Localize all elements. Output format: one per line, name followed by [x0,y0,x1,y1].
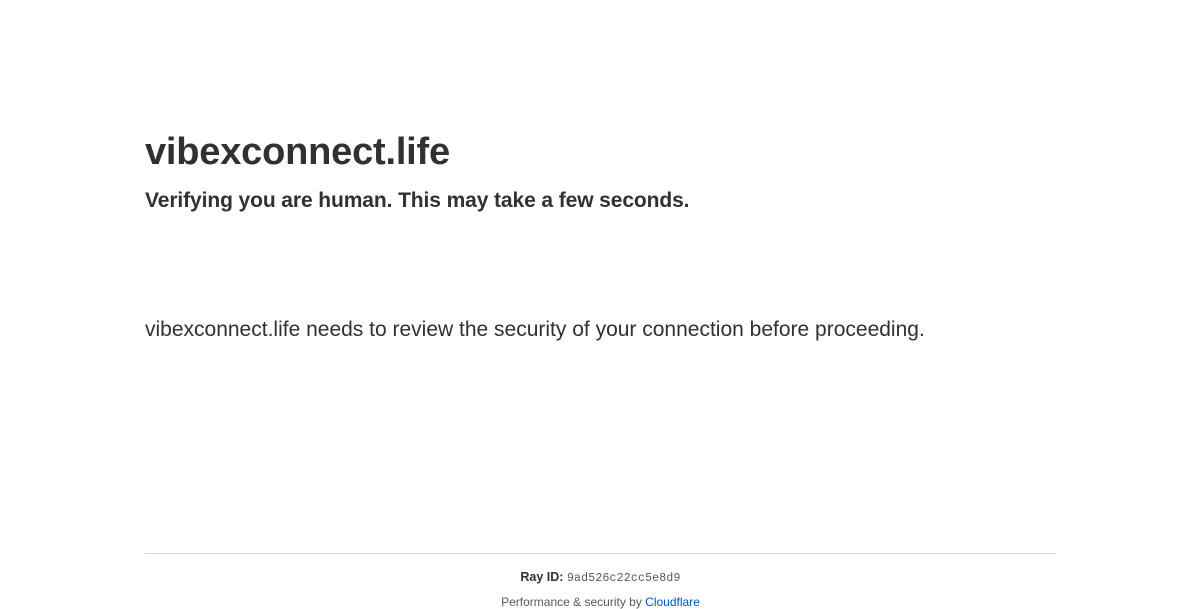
ray-id-value: 9ad526c22cc5e8d9 [567,572,681,585]
challenge-content: vibexconnect.life Verifying you are huma… [145,0,1056,496]
turnstile-challenge-widget[interactable] [145,216,445,312]
challenge-description: vibexconnect.life needs to review the se… [145,312,945,348]
challenge-page: vibexconnect.life Verifying you are huma… [0,0,1200,600]
ray-id-line: Ray ID: 9ad526c22cc5e8d9 [145,554,1056,586]
cloudflare-link[interactable]: Cloudflare [645,595,700,609]
verification-status-text: Verifying you are human. This may take a… [145,177,1056,215]
page-title: vibexconnect.life [145,0,1056,177]
attribution-prefix: Performance & security by [501,595,642,609]
ray-id-label: Ray ID: [520,570,567,584]
page-footer: Ray ID: 9ad526c22cc5e8d9 Performance & s… [145,553,1056,609]
attribution-line: Performance & security by Cloudflare [145,586,1056,609]
content-spacer [145,348,1056,496]
